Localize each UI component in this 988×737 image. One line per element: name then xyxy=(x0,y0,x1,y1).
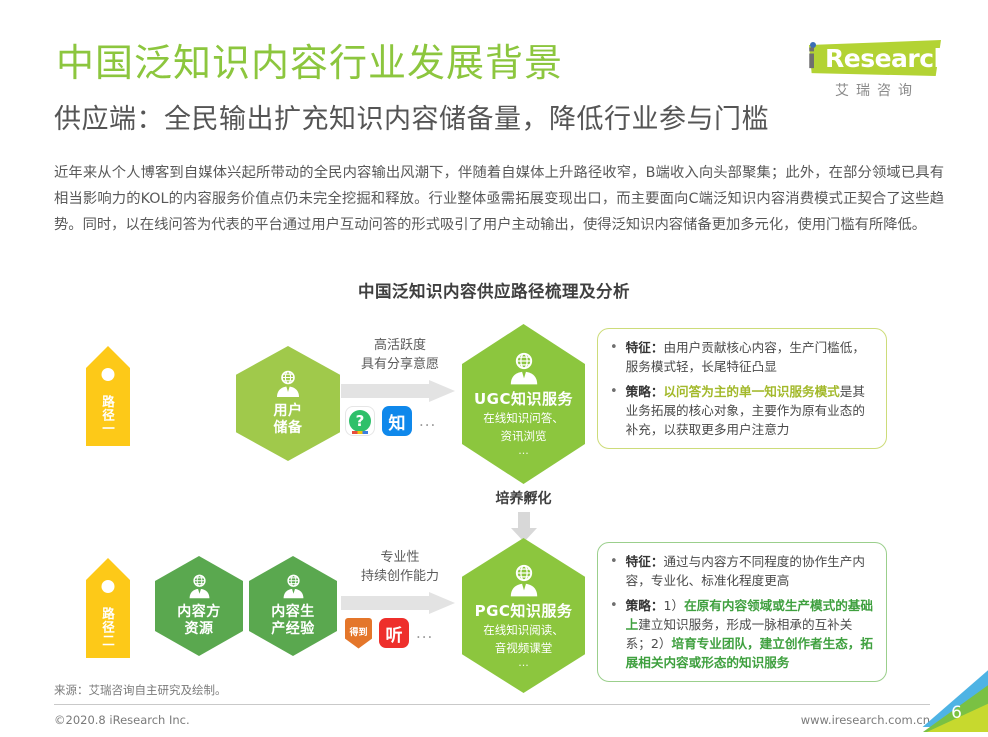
arrow-shaft xyxy=(341,596,433,610)
arrow-2-shape-icon xyxy=(341,592,459,614)
slide-page: 中国泛知识内容行业发展背景 供应端：全民输出扩充知识内容储备量，降低行业参与门槛… xyxy=(0,0,988,737)
path-badge-1: 路径一 xyxy=(86,346,130,446)
callout-ugc-strategy-label: 策略： xyxy=(626,384,664,399)
person-globe-icon xyxy=(273,370,303,400)
hex-content-party-label-2: 资源 xyxy=(185,621,214,638)
path-badge-1-label: 路径一 xyxy=(101,388,115,442)
hex-ugc-desc-line2: 资讯浏览 xyxy=(501,429,547,444)
callout-ugc-item-strategy: • 策略：以问答为主的单一知识服务模式是其业务拓展的核心对象，主要作为原有业态的… xyxy=(608,382,874,439)
wukong-wenda-icon: ? xyxy=(345,406,375,436)
bullet-icon: • xyxy=(608,552,618,590)
row1-app-icon-list: ? 知 ... xyxy=(341,404,459,438)
page-title: 中国泛知识内容行业发展背景 xyxy=(56,42,563,86)
logo-badge: i Research xyxy=(799,40,941,78)
bullet-icon: • xyxy=(608,596,618,672)
hex-content-party-label-1: 内容方 xyxy=(177,604,221,621)
page-subtitle: 供应端：全民输出扩充知识内容储备量，降低行业参与门槛 xyxy=(54,104,769,136)
incubate-label: 培养孵化 xyxy=(462,488,585,508)
callout-ugc-item-feature: • 特征：由用户贡献核心内容，生产门槛低，服务模式轻，长尾特征凸显 xyxy=(608,338,874,376)
arrow-shaft xyxy=(341,384,433,398)
person-globe-icon xyxy=(506,352,542,388)
hex-pgc-desc-line1: 在线知识阅读、 xyxy=(483,623,564,638)
bullet-icon: • xyxy=(608,382,618,439)
iresearch-logo: i Research 艾瑞咨询 xyxy=(799,40,944,102)
callout-ugc-feature-label: 特征： xyxy=(626,340,664,355)
hex-ugc-knowledge-service: UGC知识服务 在线知识问答、 资讯浏览 ... xyxy=(462,324,585,484)
person-globe-icon xyxy=(186,574,213,601)
callout-pgc-strategy-text: 策略：1）在原有内容领域或生产模式的基础上建立知识服务，形成一脉相承的互补关系；… xyxy=(626,596,874,672)
path-badge-2-label: 路径二 xyxy=(101,600,115,654)
bottom-bar xyxy=(0,732,988,737)
arrow-1-label-line2: 具有分享意愿 xyxy=(341,355,459,374)
logo-chinese-name: 艾瑞咨询 xyxy=(813,80,941,100)
person-globe-icon xyxy=(280,574,307,601)
path-badge-dot-icon xyxy=(102,368,115,381)
hex-user-reserve-label-1: 用户 xyxy=(274,403,303,420)
arrow-1-shape-icon xyxy=(341,380,459,402)
hex-ugc-title: UGC知识服务 xyxy=(474,391,573,408)
callout-pgc-feature-text: 特征：通过与内容方不同程度的协作生产内容，专业化、标准化程度更高 xyxy=(626,552,874,590)
hex-content-production-experience: 内容生 产经验 xyxy=(249,556,337,656)
callout-pgc-item-feature: • 特征：通过与内容方不同程度的协作生产内容，专业化、标准化程度更高 xyxy=(608,552,874,590)
supply-path-diagram: 路径一 路径二 用户 储备 高活跃度 xyxy=(0,310,988,670)
callout-pgc-strategy-label: 策略： xyxy=(626,598,664,613)
bullet-icon: • xyxy=(608,338,618,376)
hex-ugc-desc-line1: 在线知识问答、 xyxy=(483,411,564,426)
callout-ugc-feature-text: 特征：由用户贡献核心内容，生产门槛低，服务模式轻，长尾特征凸显 xyxy=(626,338,874,376)
hex-ugc-ellipsis: ... xyxy=(518,446,529,456)
arrow-head xyxy=(429,380,455,402)
hex-pgc-knowledge-service: PGC知识服务 在线知识阅读、 音视频课堂 ... xyxy=(462,538,585,693)
logo-letter-i: i xyxy=(807,46,816,73)
arrow-2-label-line1: 专业性 xyxy=(341,548,459,567)
person-globe-icon xyxy=(506,564,542,600)
arrow-1-label-line1: 高活跃度 xyxy=(341,336,459,355)
body-paragraph: 近年来从个人博客到自媒体兴起所带动的全民内容输出风潮下，伴随着自媒体上升路径收窄… xyxy=(54,160,944,238)
callout-pgc-feature-label: 特征： xyxy=(626,554,664,569)
corner-decoration: 6 xyxy=(916,657,988,737)
hex-pgc-ellipsis: ... xyxy=(518,658,529,668)
hex-content-experience-label-2: 产经验 xyxy=(271,621,315,638)
hex-user-reserve: 用户 储备 xyxy=(236,346,340,461)
hex-content-party-resource: 内容方 资源 xyxy=(155,556,243,656)
hex-content-experience-label-1: 内容生 xyxy=(271,604,315,621)
row2-app-icon-list: 得到 听 ... xyxy=(341,616,459,650)
callout-pgc: • 特征：通过与内容方不同程度的协作生产内容，专业化、标准化程度更高 • 策略：… xyxy=(597,542,887,682)
down-arrow-icon xyxy=(511,512,537,542)
row1-apps-ellipsis: ... xyxy=(419,406,436,436)
chart-title: 中国泛知识内容供应路径梳理及分析 xyxy=(0,278,988,302)
callout-pgc-item-strategy: • 策略：1）在原有内容领域或生产模式的基础上建立知识服务，形成一脉相承的互补关… xyxy=(608,596,874,672)
callout-pgc-strategy-prefix: 1） xyxy=(663,598,684,613)
callout-ugc-strategy-text: 策略：以问答为主的单一知识服务模式是其业务拓展的核心对象，主要作为原有业态的补充… xyxy=(626,382,874,439)
wukong-color-strip xyxy=(352,431,368,434)
incubate-connector: 培养孵化 xyxy=(462,488,585,542)
hex-user-reserve-label-2: 储备 xyxy=(274,420,303,437)
arrow-group-1: 高活跃度 具有分享意愿 ? 知 ... xyxy=(341,336,459,438)
dedao-icon: 得到 xyxy=(345,618,372,649)
row2-apps-ellipsis: ... xyxy=(416,618,433,648)
arrow-group-2: 专业性 持续创作能力 得到 听 ... xyxy=(341,548,459,650)
zhihu-icon: 知 xyxy=(382,406,412,436)
source-note: 来源：艾瑞咨询自主研究及绘制。 xyxy=(54,682,227,698)
ting-icon: 听 xyxy=(379,618,409,648)
path-badge-2: 路径二 xyxy=(86,558,130,658)
website-url[interactable]: www.iresearch.com.cn xyxy=(801,713,930,727)
path-badge-dot-icon xyxy=(102,580,115,593)
wukong-question-glyph: ? xyxy=(349,410,371,432)
copyright-text: ©2020.8 iResearch Inc. xyxy=(54,713,190,727)
callout-ugc-strategy-highlight: 以问答为主的单一知识服务模式 xyxy=(663,384,839,399)
callout-ugc: • 特征：由用户贡献核心内容，生产门槛低，服务模式轻，长尾特征凸显 • 策略：以… xyxy=(597,328,887,449)
hex-pgc-desc-line2: 音视频课堂 xyxy=(495,641,553,656)
footer-divider xyxy=(54,704,930,705)
arrow-head xyxy=(429,592,455,614)
arrow-2-label-line2: 持续创作能力 xyxy=(341,567,459,586)
hex-pgc-title: PGC知识服务 xyxy=(475,603,573,620)
logo-wordmark: Research xyxy=(825,44,951,74)
page-number: 6 xyxy=(951,703,962,723)
